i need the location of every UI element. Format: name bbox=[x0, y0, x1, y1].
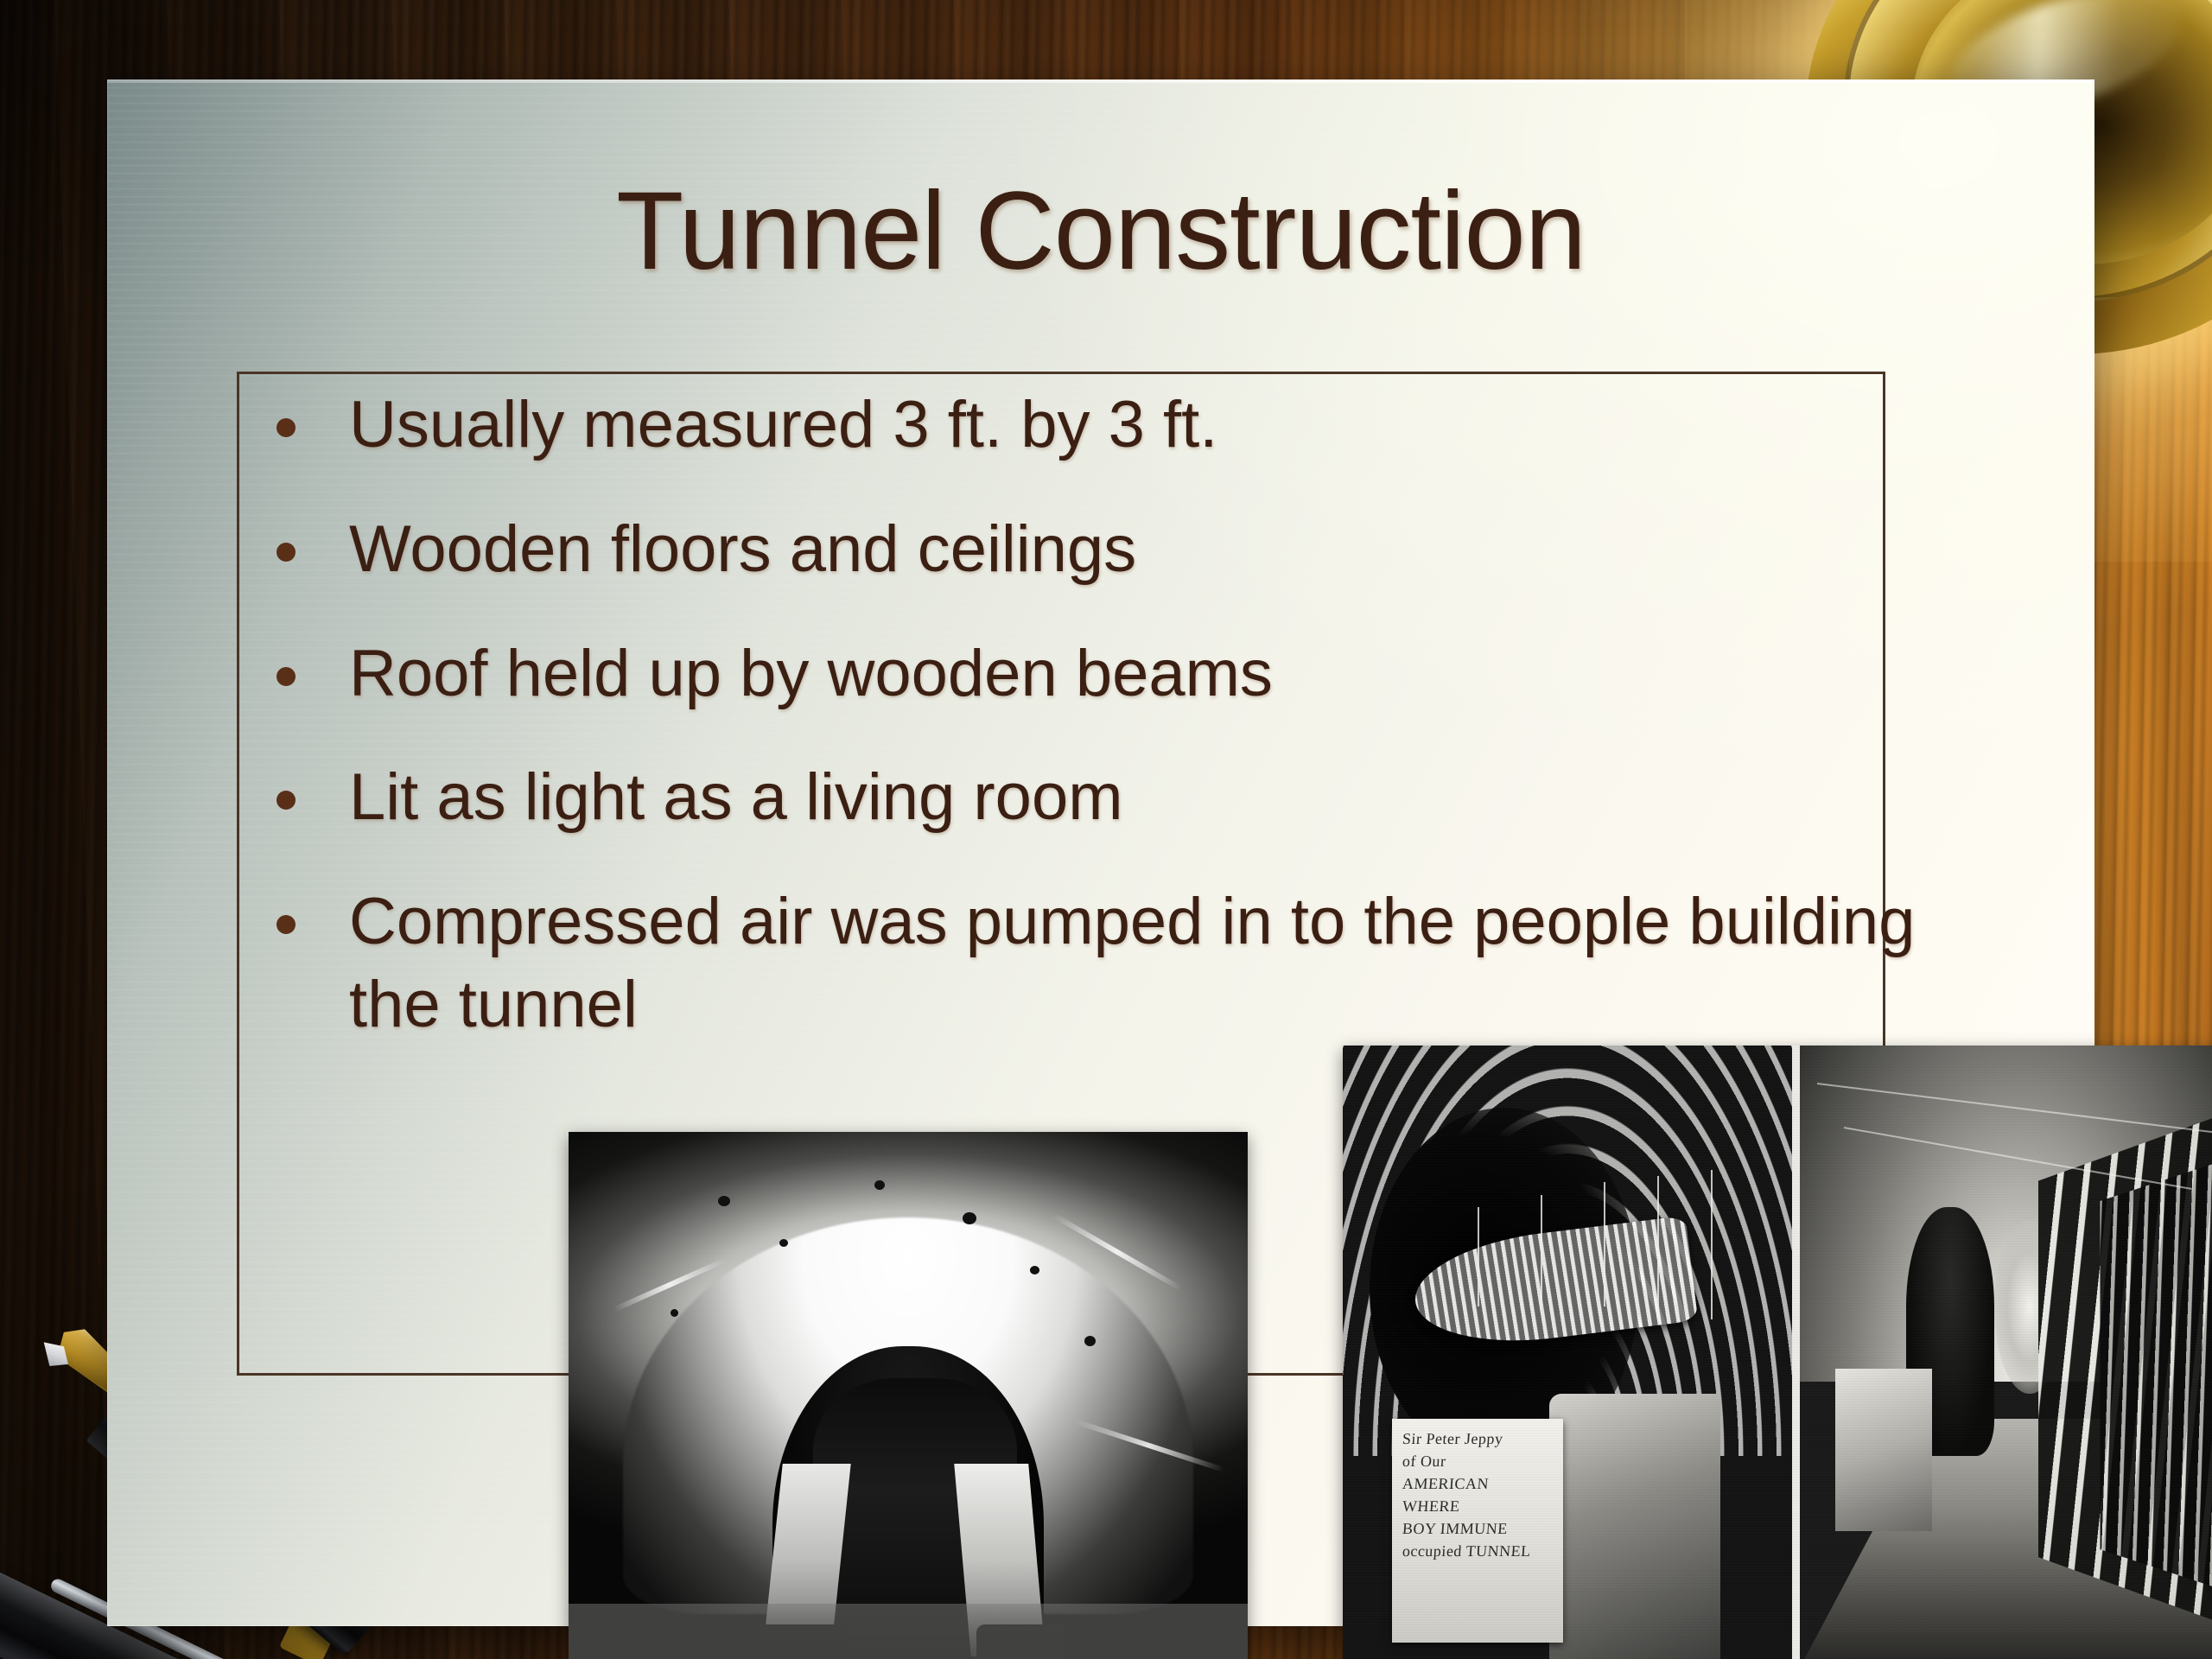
bullet-item-5: Compressed air was pumped in to the peop… bbox=[245, 880, 1939, 1046]
sign-line-1: Sir Peter Jeppy bbox=[1402, 1427, 1553, 1450]
photo-right-duct-hanger bbox=[1478, 1207, 1479, 1306]
bullet-list: Usually measured 3 ft. by 3 ft. Wooden f… bbox=[245, 384, 1939, 1088]
photo-right-left-panel: Sir Peter Jeppy of Our AMERICAN WHERE BO… bbox=[1343, 1046, 1792, 1659]
bullet-item-1: Usually measured 3 ft. by 3 ft. bbox=[245, 384, 1939, 467]
photo-right-duct-hanger bbox=[1711, 1170, 1713, 1319]
photo-left-debris bbox=[1084, 1336, 1096, 1346]
presentation-slide: Tunnel Construction Usually measured 3 f… bbox=[107, 79, 2094, 1626]
sign-line-6: occupied TUNNEL bbox=[1402, 1540, 1553, 1562]
sign-line-3: AMERICAN bbox=[1402, 1472, 1553, 1495]
photo-right-crate bbox=[1835, 1369, 1932, 1530]
photo-left-debris bbox=[671, 1309, 678, 1317]
sign-line-4: WHERE bbox=[1402, 1495, 1553, 1517]
photo-left-debris bbox=[779, 1239, 788, 1247]
photo-right-duct-hanger bbox=[1657, 1176, 1659, 1313]
shelter-tunnel-composite-photo: Sir Peter Jeppy of Our AMERICAN WHERE BO… bbox=[1343, 1046, 2212, 1659]
bullet-item-4: Lit as light as a living room bbox=[245, 756, 1939, 839]
photo-left-debris bbox=[874, 1180, 885, 1190]
bullet-item-3: Roof held up by wooden beams bbox=[245, 632, 1939, 715]
photo-right-duct-hanger bbox=[1541, 1195, 1542, 1307]
slide-title: Tunnel Construction bbox=[107, 176, 2094, 287]
tunnel-excavation-photo bbox=[569, 1132, 1248, 1659]
photo-right-handwritten-sign: Sir Peter Jeppy of Our AMERICAN WHERE BO… bbox=[1392, 1419, 1563, 1643]
bullet-item-2: Wooden floors and ceilings bbox=[245, 508, 1939, 591]
sign-line-2: of Our bbox=[1402, 1450, 1553, 1472]
photo-right-right-panel bbox=[1792, 1046, 2212, 1659]
sign-line-5: BOY IMMUNE bbox=[1402, 1517, 1553, 1540]
photo-right-bunk-pile bbox=[1549, 1394, 1720, 1659]
photo-left-floor bbox=[569, 1604, 1248, 1659]
photo-left-debris bbox=[963, 1212, 976, 1224]
photo-right-duct-hanger bbox=[1604, 1182, 1605, 1306]
slide-top-edge-highlight bbox=[107, 79, 2094, 83]
photo-right-bunk-racks-far bbox=[2100, 1158, 2212, 1593]
